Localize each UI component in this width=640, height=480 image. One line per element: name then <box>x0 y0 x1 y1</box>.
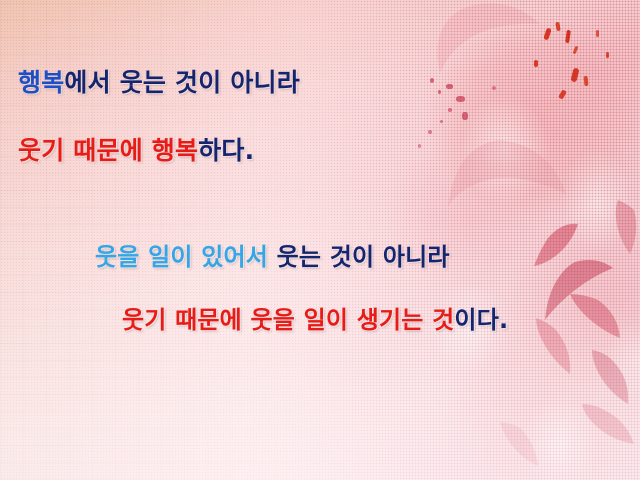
quote-text-block: 행복에서 웃는 것이 아니라 웃기 때문에 행복하다. 웃을 일이 있어서 웃는… <box>0 0 640 480</box>
quote-line-2-segment-2: 하다. <box>198 136 254 165</box>
quote-line-3-segment-2: 웃는 것이 아니라 <box>277 243 450 271</box>
quote-line-1: 행복에서 웃는 것이 아니라 <box>18 70 300 95</box>
quote-image-canvas: 행복에서 웃는 것이 아니라 웃기 때문에 행복하다. 웃을 일이 있어서 웃는… <box>0 0 640 480</box>
quote-line-1-segment-2: 에서 웃는 것이 아니라 <box>64 68 300 97</box>
quote-line-2: 웃기 때문에 행복하다. <box>18 138 254 163</box>
quote-line-2-segment-1: 웃기 때문에 행복 <box>18 136 198 165</box>
quote-line-3-segment-1: 웃을 일이 있어서 <box>95 243 277 271</box>
quote-line-4-segment-1: 웃기 때문에 웃을 일이 생기는 것 <box>122 306 454 334</box>
quote-line-3: 웃을 일이 있어서 웃는 것이 아니라 <box>95 245 450 269</box>
quote-line-4: 웃기 때문에 웃을 일이 생기는 것이다. <box>122 308 508 332</box>
quote-line-4-segment-2: 이다. <box>454 306 508 334</box>
quote-line-1-segment-1: 행복 <box>18 68 64 97</box>
